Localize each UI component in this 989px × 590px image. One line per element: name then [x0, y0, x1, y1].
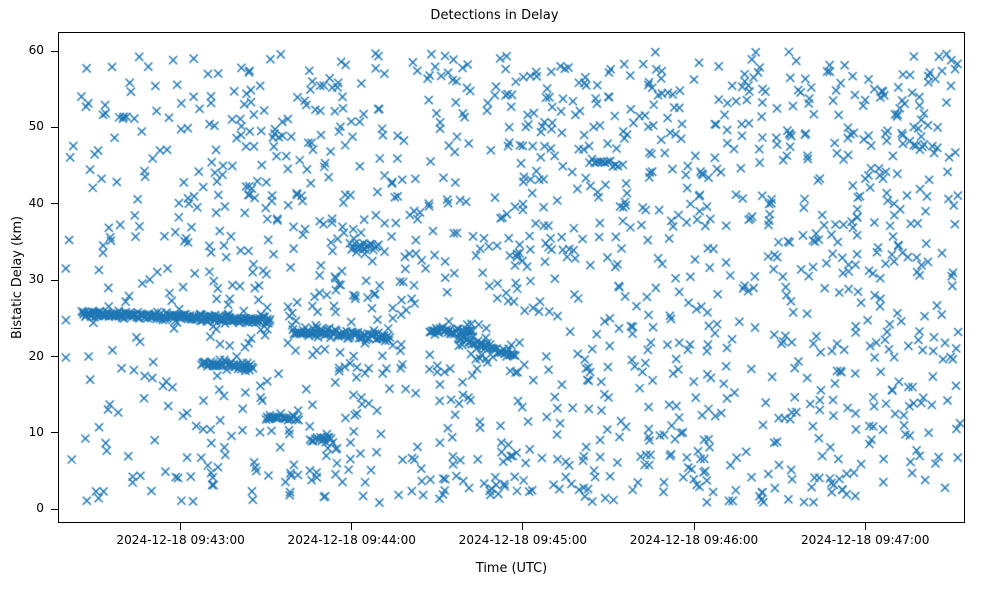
y-tick-label: 40: [29, 196, 44, 210]
plot-area[interactable]: [58, 32, 965, 523]
y-tick-mark: [51, 51, 58, 52]
x-axis-label: Time (UTC): [58, 561, 965, 576]
x-tick-label: 2024-12-18 09:43:00: [116, 533, 244, 547]
scatter-points-layer: [59, 33, 965, 523]
x-tick-mark: [694, 523, 695, 530]
y-tick-mark: [51, 203, 58, 204]
y-tick-mark: [51, 509, 58, 510]
x-tick-label: 2024-12-18 09:46:00: [630, 533, 758, 547]
y-tick-mark: [51, 127, 58, 128]
y-tick-mark: [51, 280, 58, 281]
y-tick-label: 0: [36, 501, 44, 515]
x-tick-mark: [865, 523, 866, 530]
x-tick-mark: [180, 523, 181, 530]
y-tick-mark: [51, 356, 58, 357]
figure-canvas: Detections in Delay 0102030405060 2024-1…: [0, 0, 989, 590]
x-tick-label: 2024-12-18 09:45:00: [459, 533, 587, 547]
x-tick-label: 2024-12-18 09:47:00: [801, 533, 929, 547]
y-tick-label: 30: [29, 272, 44, 286]
y-tick-label: 60: [29, 43, 44, 57]
x-tick-mark: [522, 523, 523, 530]
y-tick-mark: [51, 432, 58, 433]
x-tick-mark: [351, 523, 352, 530]
x-tick-label: 2024-12-18 09:44:00: [288, 533, 416, 547]
y-axis-label: Bistatic Delay (km): [10, 32, 30, 523]
y-tick-label: 20: [29, 349, 44, 363]
y-tick-label: 10: [29, 425, 44, 439]
y-tick-label: 50: [29, 119, 44, 133]
chart-title: Detections in Delay: [0, 8, 989, 23]
